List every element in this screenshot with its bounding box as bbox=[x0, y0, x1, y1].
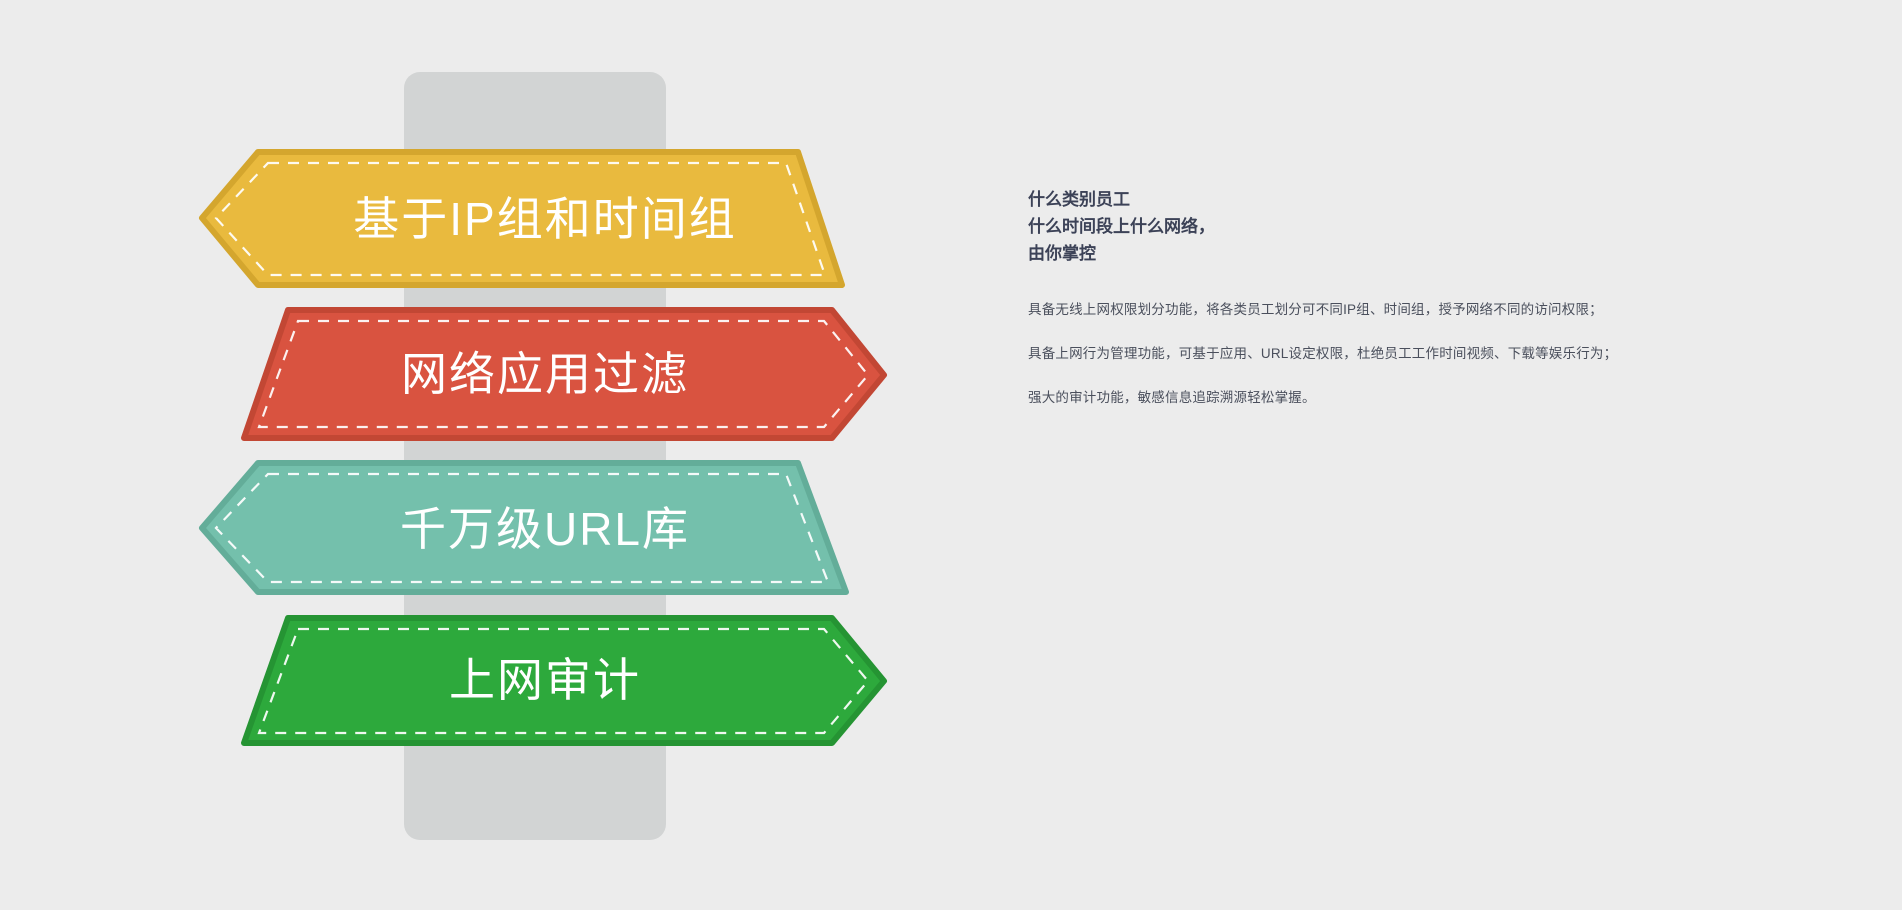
headline: 什么类别员工 什么时间段上什么网络， 由你掌控 bbox=[1028, 186, 1728, 267]
headline-line-1: 什么类别员工 bbox=[1028, 186, 1728, 213]
slide-root: 基于IP组和时间组 网络应用过滤 千万级URL库 bbox=[0, 0, 1902, 910]
headline-line-2: 什么时间段上什么网络， bbox=[1028, 213, 1728, 240]
body-paragraph-1: 具备无线上网权限划分功能，将各类员工划分可不同IP组、时间组，授予网络不同的访问… bbox=[1028, 299, 1728, 321]
signpost-column bbox=[404, 72, 666, 840]
body-paragraph-2: 具备上网行为管理功能，可基于应用、URL设定权限，杜绝员工工作时间视频、下载等娱… bbox=[1028, 343, 1728, 365]
copy-column: 什么类别员工 什么时间段上什么网络， 由你掌控 具备无线上网权限划分功能，将各类… bbox=[1028, 186, 1728, 431]
body-paragraph-3: 强大的审计功能，敏感信息追踪溯源轻松掌握。 bbox=[1028, 387, 1728, 409]
headline-line-3: 由你掌控 bbox=[1028, 240, 1728, 267]
signpost-graphic: 基于IP组和时间组 网络应用过滤 千万级URL库 bbox=[0, 0, 1020, 910]
